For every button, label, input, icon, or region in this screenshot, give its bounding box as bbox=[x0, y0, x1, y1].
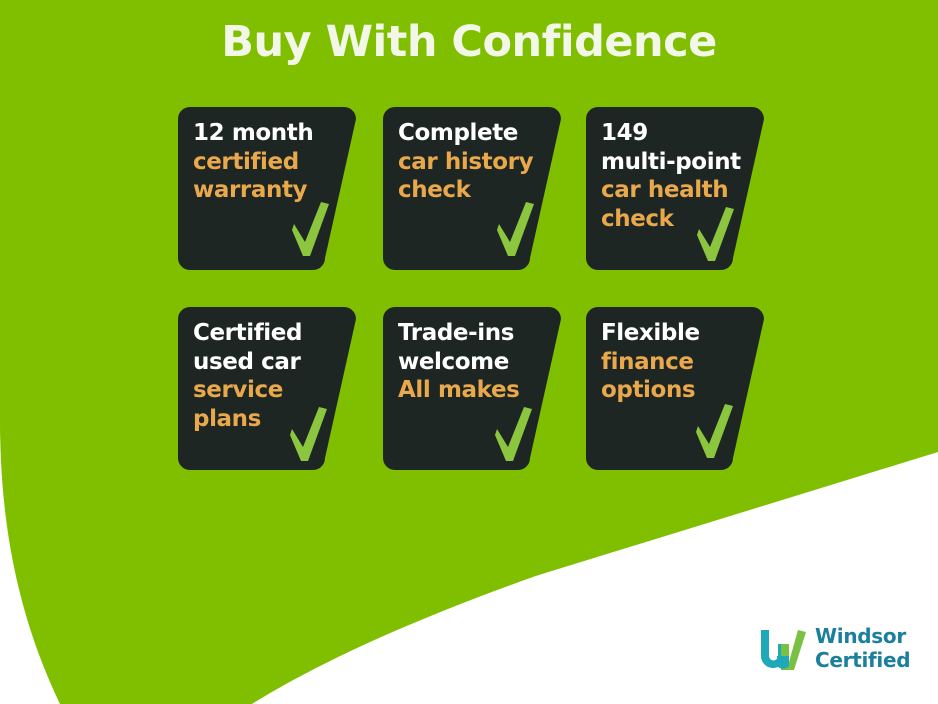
check-icon bbox=[491, 407, 535, 463]
card-line: options bbox=[601, 376, 753, 405]
card-line: Certified bbox=[193, 319, 345, 348]
card-line: finance bbox=[601, 348, 753, 377]
card-line: welcome bbox=[398, 348, 550, 377]
check-icon bbox=[692, 404, 736, 460]
logo-line-windsor: Windsor bbox=[815, 624, 925, 648]
windsor-w-icon bbox=[757, 626, 809, 674]
card-line: Flexible bbox=[601, 319, 753, 348]
feature-card-149-multi-point-car-health-check[interactable]: 149 multi-point car health check bbox=[586, 107, 764, 270]
card-text: Complete car history check bbox=[398, 119, 550, 205]
card-line: Complete bbox=[398, 119, 550, 148]
feature-card-grid: 12 month certified warranty Complete car… bbox=[178, 107, 758, 477]
card-line: service bbox=[193, 376, 345, 405]
card-text: Certified used car service plans bbox=[193, 319, 345, 433]
card-line: Trade-ins bbox=[398, 319, 550, 348]
brand-logo[interactable]: Windsor Certified bbox=[757, 622, 922, 682]
card-text: 149 multi-point car health check bbox=[601, 119, 753, 233]
card-line: used car bbox=[193, 348, 345, 377]
check-icon bbox=[493, 202, 537, 258]
feature-card-12-month-certified-warranty[interactable]: 12 month certified warranty bbox=[178, 107, 356, 270]
card-line: check bbox=[398, 176, 550, 205]
card-line: plans bbox=[193, 405, 345, 434]
card-text: Trade-ins welcome All makes bbox=[398, 319, 550, 405]
card-line: certified bbox=[193, 148, 345, 177]
card-line: 149 bbox=[601, 119, 753, 148]
card-line: check bbox=[601, 205, 753, 234]
check-icon bbox=[288, 202, 332, 258]
page-title: Buy With Confidence bbox=[0, 16, 938, 68]
feature-card-complete-car-history-check[interactable]: Complete car history check bbox=[383, 107, 561, 270]
card-text: 12 month certified warranty bbox=[193, 119, 345, 205]
card-line: car health bbox=[601, 176, 753, 205]
card-line: All makes bbox=[398, 376, 550, 405]
logo-wordmark: Windsor Certified bbox=[815, 624, 925, 672]
card-line: warranty bbox=[193, 176, 345, 205]
card-line: 12 month bbox=[193, 119, 345, 148]
feature-card-trade-ins-welcome-all-makes[interactable]: Trade-ins welcome All makes bbox=[383, 307, 561, 470]
card-line: car history bbox=[398, 148, 550, 177]
logo-line-certified: Certified bbox=[815, 648, 925, 672]
card-text: Flexible finance options bbox=[601, 319, 753, 405]
feature-card-flexible-finance-options[interactable]: Flexible finance options bbox=[586, 307, 764, 470]
feature-card-certified-used-car-service-plans[interactable]: Certified used car service plans bbox=[178, 307, 356, 470]
promo-banner: Buy With Confidence 12 month certified w… bbox=[0, 0, 938, 704]
card-line: multi-point bbox=[601, 148, 753, 177]
